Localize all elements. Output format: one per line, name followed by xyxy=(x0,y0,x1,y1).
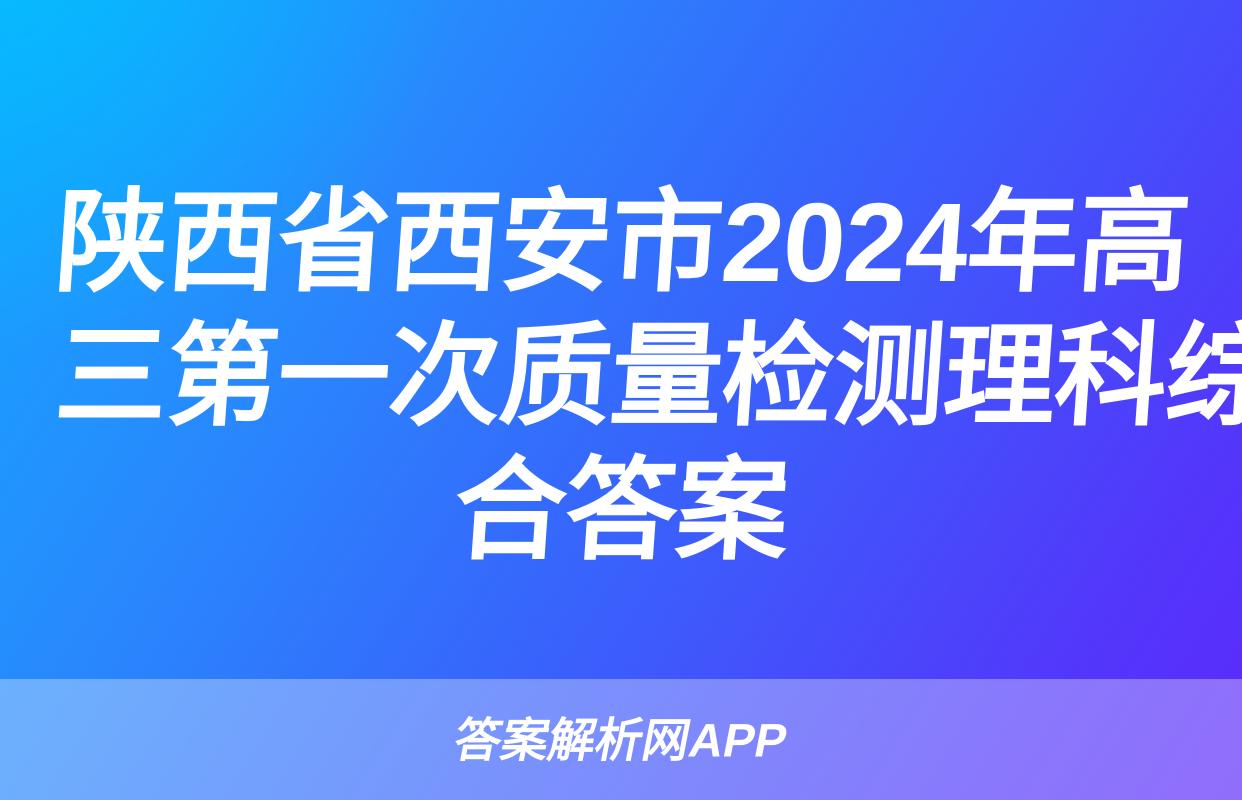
footer-band: 答案解析网APP xyxy=(0,679,1242,800)
title-line-3: 合答案 xyxy=(51,444,1190,578)
watermark: 答案解析网APP xyxy=(0,716,1242,763)
poster-canvas: 陕西省西安市2024年高 三第一次质量检测理科综 合答案 答案解析网APP xyxy=(0,0,1242,800)
title-line-2: 三第一次质量检测理科综 xyxy=(51,310,1190,444)
page-title: 陕西省西安市2024年高 三第一次质量检测理科综 合答案 xyxy=(0,176,1242,578)
title-line-1: 陕西省西安市2024年高 xyxy=(51,176,1190,310)
watermark-label: 答案解析网APP xyxy=(451,716,792,763)
